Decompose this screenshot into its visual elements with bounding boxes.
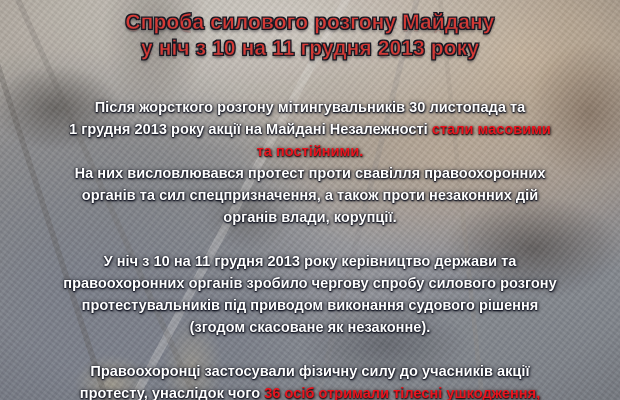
paragraph-2-line-4: (згодом скасоване як незаконне). [0,317,620,339]
highlighted-phrase: стали масовими [432,122,551,138]
text-run: протесту, унаслідок чого [80,386,264,400]
text-run: На них висловлювався протест проти сваві… [75,166,546,182]
text-run: правоохоронних органів зробило чергову с… [63,276,556,292]
paragraph-spacer [0,229,620,251]
paragraph-1-line-2: 1 грудня 2013 року акції на Майдані Неза… [0,119,620,141]
paragraph-1-line-5: органів та сил спецпризначення, а також … [0,185,620,207]
text-run: Після жорсткого розгону мітингувальників… [95,100,526,116]
poster-title: Спроба силового розгону Майдану у ніч з … [0,10,620,62]
paragraph-2-line-3: протестувальників під приводом виконання… [0,295,620,317]
text-run: протестувальників під приводом виконання… [82,298,539,314]
text-run: 1 грудня 2013 року акції на Майдані Неза… [69,122,432,138]
text-run: органів влади, корупції. [223,210,396,226]
paragraph-1-line-4: На них висловлювався протест проти сваві… [0,163,620,185]
title-line-1: Спроба силового розгону Майдану [0,10,620,36]
paragraph-2: У ніч з 10 на 11 грудня 2013 року керівн… [0,251,620,339]
poster-body-text: Після жорсткого розгону мітингувальників… [0,97,620,400]
poster-slide: Спроба силового розгону Майдану у ніч з … [0,0,620,400]
highlighted-phrase: та постійними. [257,144,364,160]
highlighted-phrase: 36 осіб отримали тілесні ушкодження, [264,386,540,400]
paragraph-1-line-3: та постійними. [0,141,620,163]
paragraph-2-line-1: У ніч з 10 на 11 грудня 2013 року керівн… [0,251,620,273]
paragraph-spacer [0,339,620,361]
paragraph-3: Правоохоронці застосували фізичну силу д… [0,361,620,400]
paragraph-3-line-1: Правоохоронці застосували фізичну силу д… [0,361,620,383]
text-run: (згодом скасоване як незаконне). [190,320,431,336]
paragraph-3-line-2: протесту, унаслідок чого 36 осіб отримал… [0,383,620,400]
paragraph-2-line-2: правоохоронних органів зробило чергову с… [0,273,620,295]
text-run: органів та сил спецпризначення, а також … [82,188,538,204]
title-line-2: у ніч з 10 на 11 грудня 2013 року [0,36,620,62]
text-run: Правоохоронці застосували фізичну силу д… [90,364,529,380]
paragraph-1: Після жорсткого розгону мітингувальників… [0,97,620,229]
poster-content: Спроба силового розгону Майдану у ніч з … [0,0,620,400]
paragraph-1-line-6: органів влади, корупції. [0,207,620,229]
paragraph-1-line-1: Після жорсткого розгону мітингувальників… [0,97,620,119]
text-run: У ніч з 10 на 11 грудня 2013 року керівн… [104,254,517,270]
